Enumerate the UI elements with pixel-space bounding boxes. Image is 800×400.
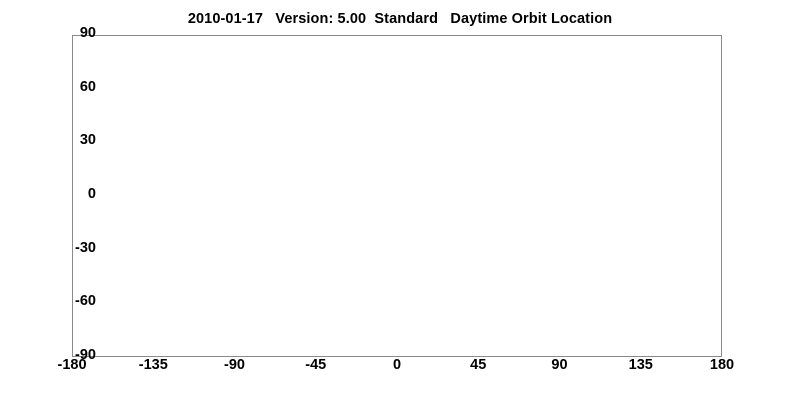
figure-title: 2010-01-17 Version: 5.00 Standard Daytim… (0, 11, 800, 27)
x-tick-label: 90 (530, 357, 590, 373)
x-tick-label: 45 (448, 357, 508, 373)
y-tick-label: 30 (36, 132, 96, 148)
y-tick-label: 60 (36, 79, 96, 95)
x-tick-label: 180 (692, 357, 752, 373)
x-tick-label: -45 (286, 357, 346, 373)
y-tick-label: 0 (36, 186, 96, 202)
x-tick-label: -180 (42, 357, 102, 373)
plot-area (72, 35, 722, 357)
x-tick-label: -135 (123, 357, 183, 373)
y-tick-label: -30 (36, 240, 96, 256)
plot-frame (72, 35, 722, 357)
x-tick-label: -90 (205, 357, 265, 373)
x-tick-label: 0 (367, 357, 427, 373)
orbit-location-figure: 2010-01-17 Version: 5.00 Standard Daytim… (0, 0, 800, 400)
y-tick-label: 90 (36, 25, 96, 41)
y-tick-label: -60 (36, 293, 96, 309)
x-tick-label: 135 (611, 357, 671, 373)
